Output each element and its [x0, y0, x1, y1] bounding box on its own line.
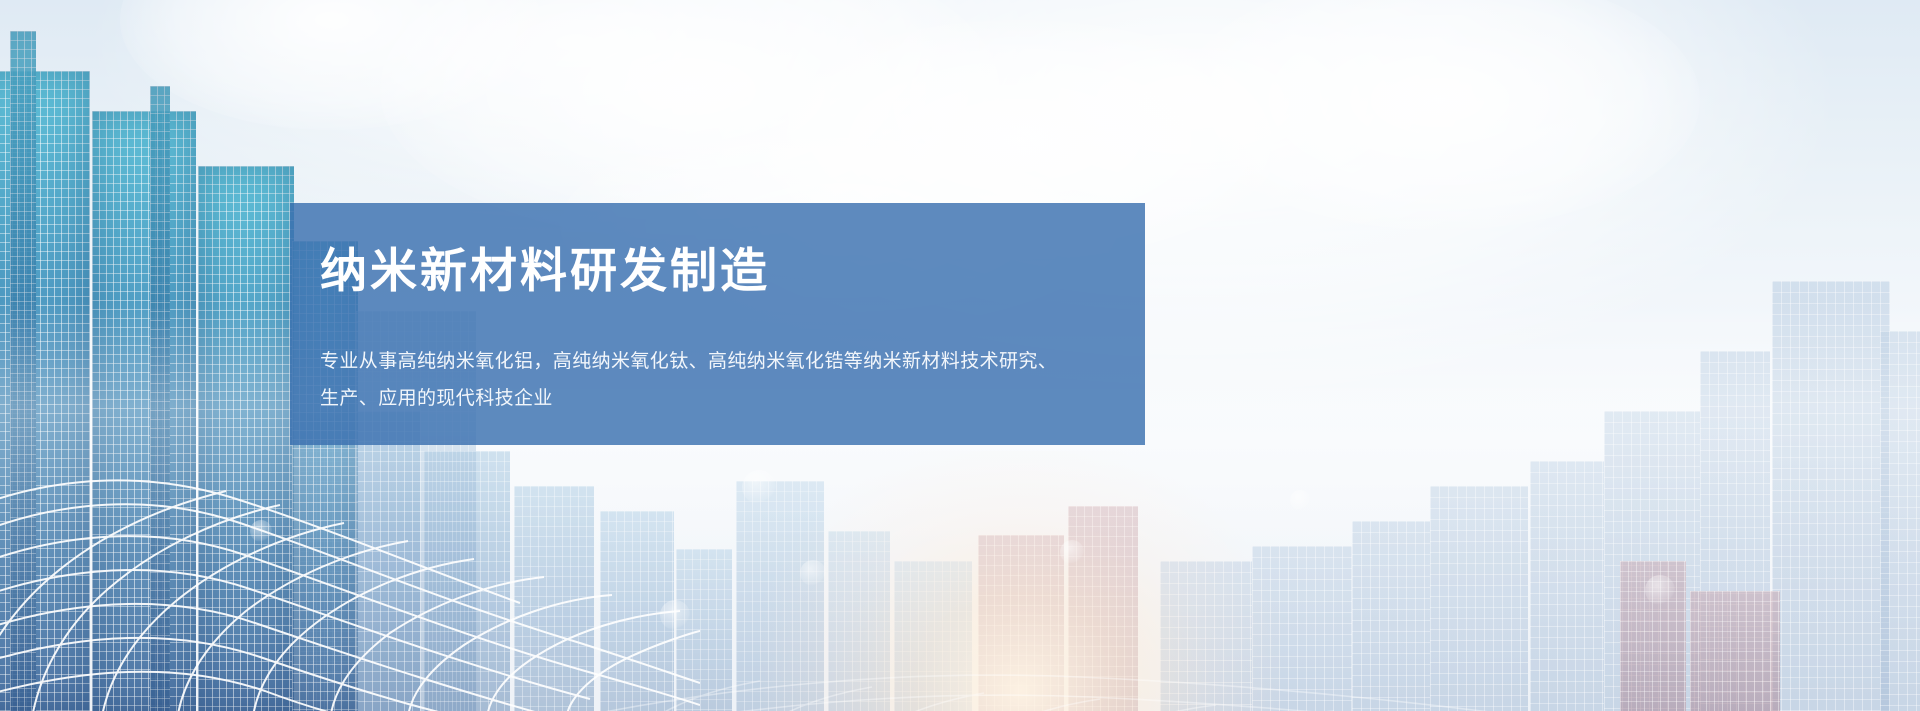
hero-banner: 纳米新材料研发制造 专业从事高纯纳米氧化铝，高纯纳米氧化钛、高纯纳米氧化锆等纳米…: [0, 0, 1920, 711]
hero-subtitle-line-2: 生产、应用的现代科技企业: [320, 380, 1115, 417]
hero-subtitle: 专业从事高纯纳米氧化铝，高纯纳米氧化钛、高纯纳米氧化锆等纳米新材料技术研究、 生…: [320, 343, 1115, 417]
hero-subtitle-line-1: 专业从事高纯纳米氧化铝，高纯纳米氧化钛、高纯纳米氧化锆等纳米新材料技术研究、: [320, 343, 1115, 380]
page-title: 纳米新材料研发制造: [320, 245, 1115, 297]
hero-overlay-card: 纳米新材料研发制造 专业从事高纯纳米氧化铝，高纯纳米氧化钛、高纯纳米氧化锆等纳米…: [290, 203, 1145, 445]
